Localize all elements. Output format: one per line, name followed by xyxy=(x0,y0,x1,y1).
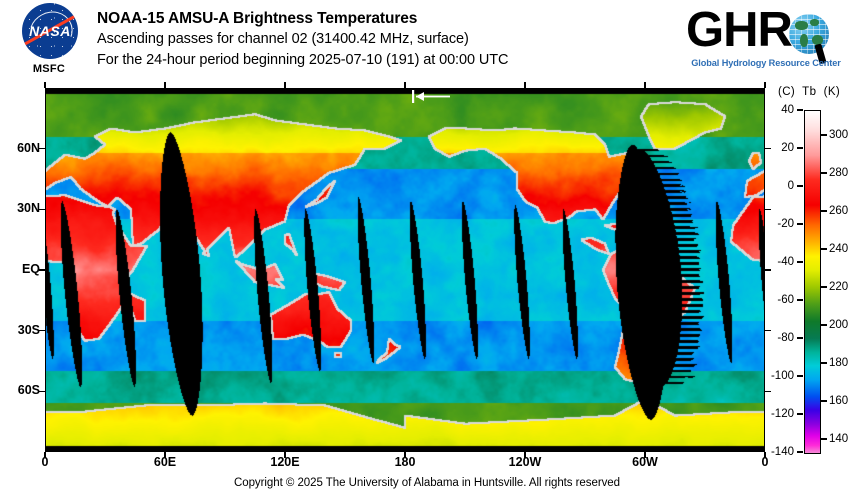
lat-tick xyxy=(765,269,771,271)
colorbar-tick-kelvin xyxy=(821,286,827,288)
map-plot-area[interactable] xyxy=(45,88,765,452)
colorbar-tick-kelvin xyxy=(821,210,827,212)
colorbar-label-kelvin: 160 xyxy=(829,395,848,407)
colorbar-tick-kelvin xyxy=(821,172,827,174)
lon-tick xyxy=(644,82,646,88)
colorbar-tick-kelvin xyxy=(821,362,827,364)
ghrc-subtitle: Global Hydrology Resource Center xyxy=(688,58,844,68)
colorbar-tick-celsius xyxy=(797,413,803,415)
lon-label: 60E xyxy=(154,455,176,469)
colorbar-label-celsius: -80 xyxy=(762,332,794,344)
globe-landmass xyxy=(810,19,819,26)
colorbar-tick-celsius xyxy=(797,337,803,339)
page-title: NOAA-15 AMSU-A Brightness Temperatures xyxy=(97,8,677,29)
colorbar-label-celsius: -100 xyxy=(762,370,794,382)
lon-tick xyxy=(404,82,406,88)
colorbar-tick-celsius xyxy=(797,109,803,111)
colorbar-label-kelvin: 220 xyxy=(829,281,848,293)
brightness-temperature-map[interactable] xyxy=(45,88,765,452)
colorbar-tick-celsius xyxy=(797,147,803,149)
globe-grid xyxy=(789,14,829,54)
ghrc-wordmark: GHR xyxy=(686,6,792,55)
lon-tick xyxy=(164,82,166,88)
globe-landmass xyxy=(795,21,808,30)
nasa-logo: NASA MSFC xyxy=(10,3,88,83)
ghrc-logo: GHR Global Hydrology Resource Center xyxy=(686,6,846,72)
lon-label: 120W xyxy=(509,455,542,469)
header: NASA MSFC NOAA-15 AMSU-A Brightness Temp… xyxy=(0,0,854,86)
colorbar-label-kelvin: 300 xyxy=(829,129,848,141)
lat-label: 60S xyxy=(0,383,40,397)
lon-tick xyxy=(284,82,286,88)
colorbar-quantity: Tb xyxy=(802,86,816,98)
page-period: For the 24-hour period beginning 2025-07… xyxy=(97,50,677,71)
colorbar-tick-celsius xyxy=(797,261,803,263)
colorbar-tick-celsius xyxy=(797,185,803,187)
lon-label: 60W xyxy=(632,455,658,469)
colorbar-gradient xyxy=(804,110,821,454)
colorbar-header: (C) Tb (K) xyxy=(778,86,854,98)
colorbar-label-kelvin: 180 xyxy=(829,357,848,369)
globe-landmass xyxy=(800,34,808,47)
lat-label: EQ xyxy=(0,262,40,276)
lat-tick xyxy=(765,391,771,393)
colorbar-tick-celsius xyxy=(797,223,803,225)
colorbar-label-celsius: -40 xyxy=(762,256,794,268)
lat-label: 60N xyxy=(0,141,40,155)
colorbar-unit-kelvin: (K) xyxy=(824,86,841,98)
colorbar-label-celsius: 0 xyxy=(762,180,794,192)
lat-label: 30N xyxy=(0,201,40,215)
colorbar-tick-celsius xyxy=(797,299,803,301)
lat-label: 30S xyxy=(0,323,40,337)
lat-tick xyxy=(765,209,771,211)
title-block: NOAA-15 AMSU-A Brightness Temperatures A… xyxy=(97,8,677,71)
lon-label: 120E xyxy=(270,455,299,469)
nasa-wordmark: NASA xyxy=(22,23,78,39)
nasa-meatball-icon: NASA xyxy=(22,3,78,59)
lon-label: 180 xyxy=(395,455,416,469)
colorbar-tick-kelvin xyxy=(821,134,827,136)
lon-tick xyxy=(524,82,526,88)
colorbar-label-celsius: 20 xyxy=(762,142,794,154)
colorbar-tick-kelvin xyxy=(821,438,827,440)
colorbar-label-kelvin: 280 xyxy=(829,167,848,179)
colorbar-label-celsius: -140 xyxy=(762,446,794,458)
copyright-notice: Copyright © 2025 The University of Alaba… xyxy=(0,477,854,489)
colorbar-label-celsius: -120 xyxy=(762,408,794,420)
lon-label: 0 xyxy=(42,455,49,469)
lon-tick xyxy=(44,82,46,88)
globe-icon xyxy=(789,14,829,54)
colorbar-tick-kelvin xyxy=(821,324,827,326)
colorbar-label-kelvin: 140 xyxy=(829,433,848,445)
colorbar-tick-kelvin xyxy=(821,400,827,402)
colorbar-tick-kelvin xyxy=(821,248,827,250)
colorbar-label-kelvin: 200 xyxy=(829,319,848,331)
left-arrow-cursor-icon xyxy=(412,90,450,103)
colorbar-unit-celsius: (C) xyxy=(778,86,795,98)
colorbar-tick-celsius xyxy=(797,451,803,453)
colorbar-label-kelvin: 260 xyxy=(829,205,848,217)
page-subtitle: Ascending passes for channel 02 (31400.4… xyxy=(97,29,677,50)
colorbar-label-celsius: -60 xyxy=(762,294,794,306)
colorbar-label-kelvin: 240 xyxy=(829,243,848,255)
colorbar-label-celsius: -20 xyxy=(762,218,794,230)
lon-tick xyxy=(764,82,766,88)
colorbar-label-celsius: 40 xyxy=(762,104,794,116)
colorbar-tick-celsius xyxy=(797,375,803,377)
nasa-center-label: MSFC xyxy=(10,63,88,75)
